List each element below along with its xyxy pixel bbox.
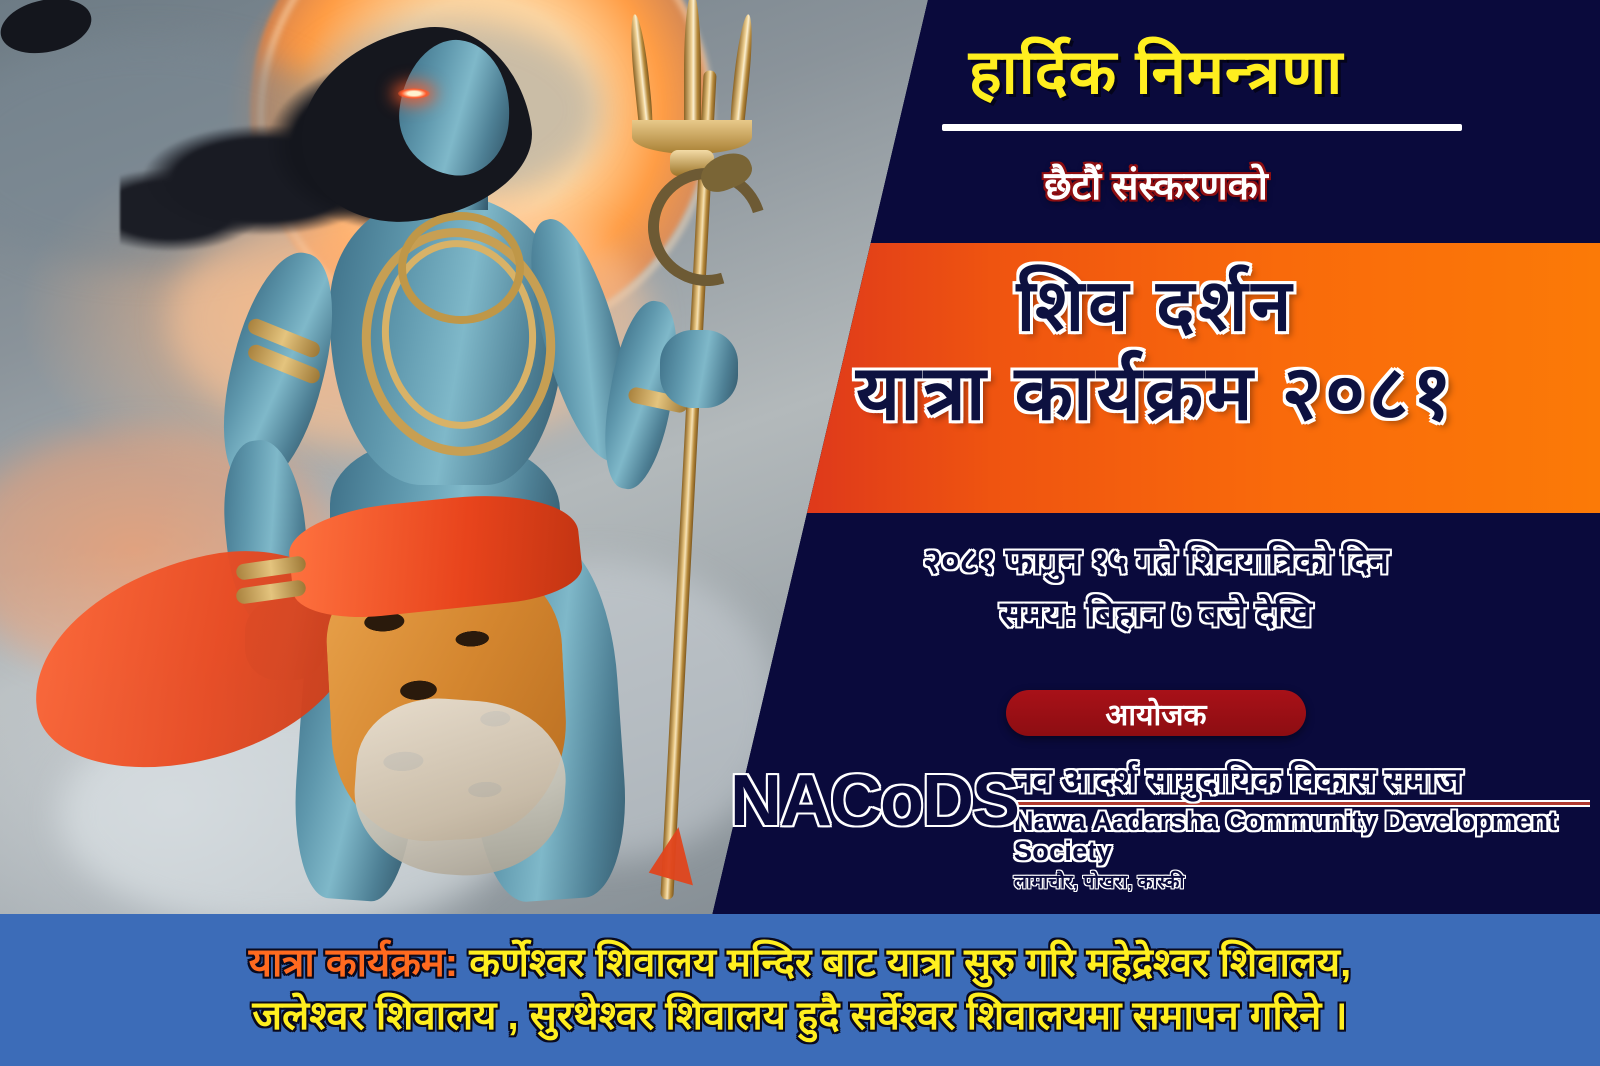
logo-wordmark: NACoDS xyxy=(730,768,1018,834)
info-panel-content: हार्दिक निमन्त्रणा छैटौं संस्करणको शिव द… xyxy=(712,0,1600,916)
neck-torque xyxy=(398,212,524,324)
orange-triangle-mark xyxy=(649,823,708,886)
route-banner: यात्रा कार्यक्रम: कर्णेश्वर शिवालय मन्दि… xyxy=(0,914,1600,1066)
top-knot xyxy=(0,0,96,61)
organization-address: लामाचौर, पोखरा, कास्की xyxy=(1014,868,1590,894)
event-title-line1: शिव दर्शन xyxy=(712,266,1600,347)
invitation-heading: हार्दिक निमन्त्रणा xyxy=(712,40,1600,105)
route-line-2: जलेश्वर शिवालय , सुरथेश्वर शिवालय हुदै स… xyxy=(226,990,1373,1043)
organization-name-nepali: नव आदर्श सामुदायिक विकास समाज xyxy=(1014,762,1590,800)
route-label: यात्रा कार्यक्रम: xyxy=(249,941,458,985)
event-title: शिव दर्शन यात्रा कार्यक्रम २०८१ xyxy=(712,266,1600,436)
logo-text-block: नव आदर्श सामुदायिक विकास समाज Nawa Aadar… xyxy=(1014,762,1590,894)
third-eye-icon xyxy=(398,88,430,99)
organization-name-english: Nawa Aadarsha Community Development Soci… xyxy=(1014,806,1590,866)
event-date: २०८१ फागुन १५ गते शिवयात्रिको दिन xyxy=(712,536,1600,589)
heading-divider xyxy=(942,124,1462,131)
route-line-1: यात्रा कार्यक्रम: कर्णेश्वर शिवालय मन्दि… xyxy=(223,937,1378,990)
organizer-logo: NACoDS नव आदर्श सामुदायिक विकास समाज Naw… xyxy=(730,762,1590,894)
event-title-line2: यात्रा कार्यक्रम २०८१ xyxy=(712,351,1600,436)
event-time: समय: बिहान ७ बजे देखि xyxy=(712,589,1600,642)
logo-divider xyxy=(1014,802,1590,805)
edition-label: छैटौं संस्करणको xyxy=(712,158,1600,211)
route-line-1-text: कर्णेश्वर शिवालय मन्दिर बाट यात्रा सुरु … xyxy=(458,941,1351,985)
organizer-badge: आयोजक xyxy=(1006,690,1306,736)
event-schedule: २०८१ फागुन १५ गते शिवयात्रिको दिन समय: ब… xyxy=(712,536,1600,641)
event-poster: हार्दिक निमन्त्रणा छैटौं संस्करणको शिव द… xyxy=(0,0,1600,1066)
